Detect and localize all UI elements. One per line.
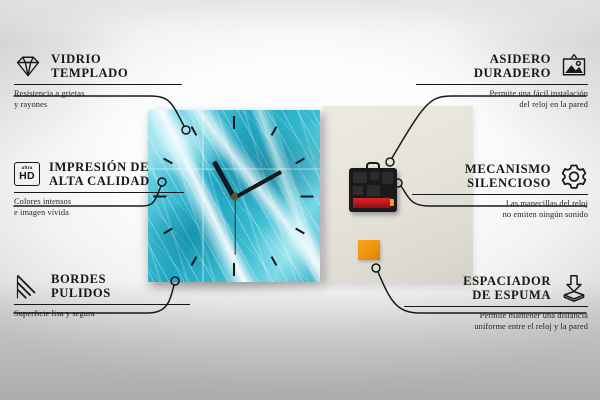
- clock-tick: [295, 228, 305, 235]
- feature-header: ESPACIADOR DE ESPUMA: [398, 274, 588, 302]
- picture-frame-icon: [560, 52, 588, 80]
- mechanism-detail: [353, 172, 367, 183]
- feature-description: Las manecillas del reloj no emiten ningú…: [404, 199, 588, 220]
- foam-spacer-sample: [358, 240, 380, 260]
- feature-description: Superficie lisa y segura: [14, 309, 196, 319]
- clock-tick: [233, 263, 235, 276]
- foam-spacer-arrow-icon: [560, 274, 588, 302]
- feature-header: ASIDERO DURADERO: [408, 52, 588, 80]
- clock-mechanism-module: [349, 168, 397, 212]
- feature-title: IMPRESIÓN DE ALTA CALIDAD: [49, 160, 150, 188]
- feature-title: MECANISMO SILENCIOSO: [465, 162, 551, 190]
- feature-divider: [404, 306, 588, 307]
- feature-header: ultra HD IMPRESIÓN DE ALTA CALIDAD: [14, 160, 192, 188]
- clock-tick: [163, 228, 173, 235]
- clock-tick: [233, 116, 235, 129]
- feature-asidero-duradero: ASIDERO DURADERO Permite una fácil insta…: [408, 52, 588, 110]
- feature-divider: [14, 84, 182, 85]
- clock-minute-hand: [233, 170, 282, 200]
- feature-divider: [412, 194, 588, 195]
- mechanism-detail: [367, 185, 380, 196]
- clock-tick: [295, 158, 305, 165]
- feature-description: Permite una fácil instalación del reloj …: [408, 89, 588, 110]
- mechanism-detail: [370, 172, 379, 180]
- feature-title: BORDES PULIDOS: [51, 272, 111, 300]
- feature-divider: [14, 304, 190, 305]
- diagonal-lines-icon: [14, 272, 42, 300]
- feature-title: ESPACIADOR DE ESPUMA: [463, 274, 551, 302]
- feature-header: MECANISMO SILENCIOSO: [404, 162, 588, 190]
- feature-bordes-pulidos: BORDES PULIDOS Superficie lisa y segura: [14, 272, 196, 320]
- feature-divider: [14, 192, 184, 193]
- battery-label: [361, 232, 383, 235]
- infographic-canvas: VIDRIO TEMPLADO Resistencia a grietas y …: [0, 0, 600, 400]
- diamond-icon: [14, 52, 42, 80]
- gear-icon: [560, 162, 588, 190]
- feature-impresion-alta-calidad: ultra HD IMPRESIÓN DE ALTA CALIDAD Color…: [14, 160, 192, 218]
- feature-description: Resistencia a grietas y rayones: [14, 89, 192, 110]
- feature-description: Permite mantener una distancia uniforme …: [398, 311, 588, 332]
- ultra-hd-icon-main-text: HD: [19, 171, 35, 182]
- clock-tick: [301, 196, 314, 198]
- feature-divider: [416, 84, 588, 85]
- feature-mecanismo-silencioso: MECANISMO SILENCIOSO Las manecillas del …: [404, 162, 588, 220]
- clock-tick: [271, 256, 278, 266]
- clock-second-hand: [234, 197, 235, 255]
- mechanism-detail: [382, 172, 393, 184]
- mechanism-hanger-icon: [366, 162, 380, 171]
- mechanism-detail: [353, 186, 363, 195]
- background-top-shade: [0, 0, 600, 40]
- battery: [353, 198, 391, 208]
- feature-title: ASIDERO DURADERO: [474, 52, 551, 80]
- clock-tick: [271, 126, 278, 136]
- battery-terminal: [390, 199, 394, 206]
- feature-title: VIDRIO TEMPLADO: [51, 52, 128, 80]
- feature-description: Colores intensos e imagen vívida: [14, 197, 192, 218]
- clock-tick: [191, 126, 198, 136]
- feature-header: VIDRIO TEMPLADO: [14, 52, 192, 80]
- clock-center-cap: [231, 193, 238, 200]
- clock-tick: [191, 256, 198, 266]
- ultra-hd-icon: ultra HD: [14, 162, 40, 186]
- feature-vidrio-templado: VIDRIO TEMPLADO Resistencia a grietas y …: [14, 52, 192, 110]
- feature-header: BORDES PULIDOS: [14, 272, 196, 300]
- feature-espaciador-de-espuma: ESPACIADOR DE ESPUMA Permite mantener un…: [398, 274, 588, 332]
